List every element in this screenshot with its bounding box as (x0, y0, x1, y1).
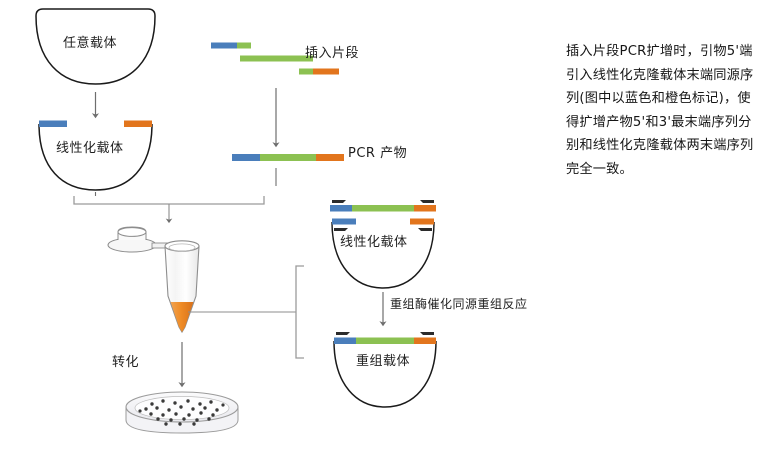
junction-marks (336, 332, 434, 335)
petri-dish (126, 392, 238, 433)
node-recombinant-vector (334, 332, 436, 407)
homology-arm-orange (124, 121, 152, 128)
node-pcr-product (232, 154, 344, 161)
label-linearized-vector-left: 线性化载体 (56, 137, 124, 156)
primer-fwd-anneal (237, 43, 251, 49)
label-pcr-product: PCR 产物 (348, 142, 407, 161)
homology-arm-blue (39, 121, 67, 128)
label-recombinase-reaction: 重组酶催化同源重组反应 (390, 295, 528, 312)
diagram-canvas: 任意载体 线性化载体 插入片段 PCR 产物 线性化载体 重组载体 重组酶催化同… (0, 0, 768, 454)
primer-fwd-homology (211, 43, 237, 49)
insert-template (240, 56, 313, 62)
primer-rev-homology (313, 69, 339, 75)
primer-marks (332, 200, 434, 203)
label-linearized-vector-right: 线性化载体 (340, 231, 408, 250)
reaction-bracket (296, 266, 304, 358)
reaction-tube (108, 227, 199, 332)
label-recombinant-vector: 重组载体 (356, 350, 410, 369)
tube-liquid (171, 302, 194, 332)
label-insert-fragment: 插入片段 (305, 42, 359, 61)
mix-bracket (74, 196, 264, 222)
primer-rev-anneal (299, 69, 313, 75)
side-note-text: 插入片段PCR扩增时，引物5'端引入线性化克隆载体末端同源序列(图中以蓝色和橙色… (566, 40, 762, 182)
label-transformation: 转化 (112, 351, 139, 370)
label-any-vector: 任意载体 (63, 32, 117, 51)
